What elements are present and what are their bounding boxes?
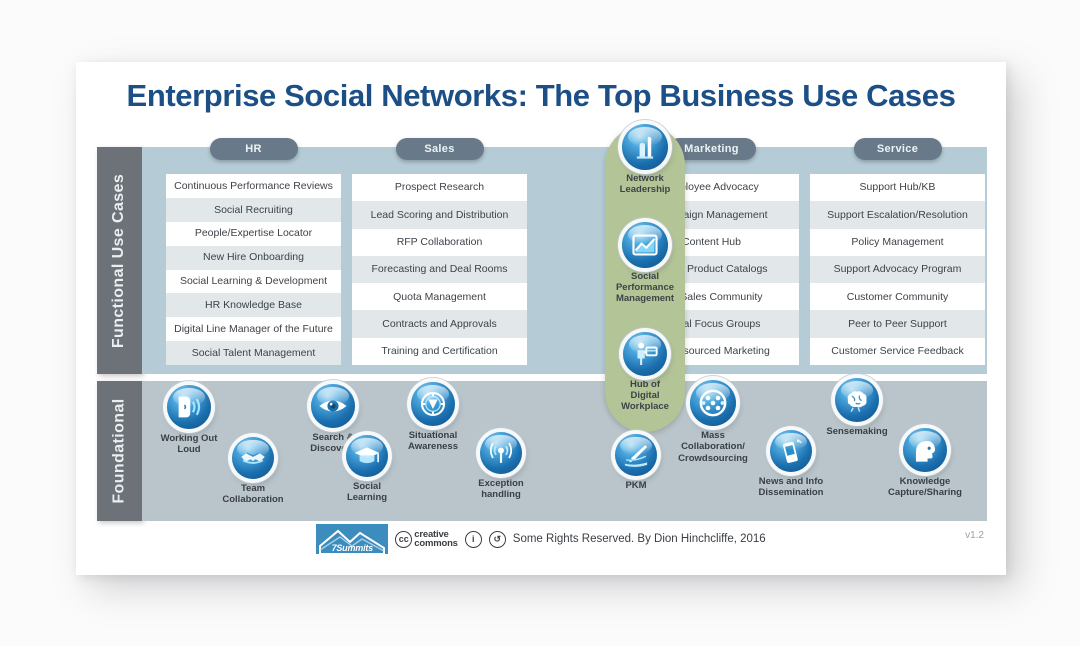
foundational-item-label: SocialLearning (312, 481, 422, 504)
creative-commons-wordmark: cc creative commons (395, 530, 457, 549)
column-header-sales[interactable]: Sales (396, 138, 484, 160)
foundational-item-mobile-phone[interactable]: News and InfoDissemination (736, 430, 846, 499)
cc-sharealike-badge-icon: ↺ (489, 531, 506, 548)
center-item-orb (605, 332, 685, 376)
foundational-item-signal-tower[interactable]: Exceptionhandling (446, 432, 556, 501)
section-label-functional-text: Functional Use Cases (111, 173, 129, 347)
network-leadership-icon (622, 124, 668, 170)
use-case-cell[interactable]: Social Learning & Development (166, 270, 341, 294)
handshake-icon (232, 437, 274, 479)
cc-icon: cc (395, 531, 412, 548)
eye-icon (311, 384, 355, 428)
cc-line-2: commons (414, 539, 457, 549)
column-header-service[interactable]: Service (854, 138, 942, 160)
cc-attribution-badge-icon: i (465, 531, 482, 548)
use-case-cell[interactable]: HR Knowledge Base (166, 293, 341, 317)
foundational-item-label: TeamCollaboration (198, 483, 308, 506)
signal-tower-icon (480, 432, 522, 474)
sevensummits-logo-text: 7Summits (332, 543, 373, 554)
column-header-label: HR (245, 143, 262, 155)
use-case-column-hr: Continuous Performance ReviewsSocial Rec… (166, 174, 341, 365)
use-case-cell[interactable]: Policy Management (810, 229, 985, 256)
footer: 7Summits cc creative commons i ↺ Some Ri… (76, 524, 1006, 554)
use-case-cell[interactable]: Digital Line Manager of the Future (166, 317, 341, 341)
section-label-functional-use-cases: Functional Use Cases (97, 147, 142, 374)
rights-text: Some Rights Reserved. By Dion Hinchcliff… (513, 533, 766, 545)
use-case-cell[interactable]: Support Advocacy Program (810, 256, 985, 283)
use-case-cell[interactable]: RFP Collaboration (352, 229, 527, 256)
center-item-label: NetworkLeadership (605, 173, 685, 195)
center-item-label: SocialPerformanceManagement (605, 271, 685, 305)
compass-icon (411, 382, 455, 426)
version-label: v1.2 (965, 530, 984, 541)
foundational-item-label: KnowledgeCapture/Sharing (870, 476, 980, 499)
use-case-cell[interactable]: Social Talent Management (166, 341, 341, 365)
foundational-item-label: PKM (581, 480, 691, 491)
column-header-hr[interactable]: HR (210, 138, 298, 160)
use-case-cell[interactable]: Contracts and Approvals (352, 310, 527, 337)
column-header-label: Marketing (684, 143, 739, 155)
use-case-cell[interactable]: Prospect Research (352, 174, 527, 201)
use-case-cell[interactable]: Lead Scoring and Distribution (352, 201, 527, 228)
use-case-cell[interactable]: People/Expertise Locator (166, 222, 341, 246)
foundational-item-label: News and InfoDissemination (736, 476, 846, 499)
brain-icon (835, 378, 879, 422)
infographic-card: Enterprise Social Networks: The Top Busi… (76, 62, 1006, 575)
digital-workplace-icon (623, 332, 667, 376)
use-case-cell[interactable]: Quota Management (352, 283, 527, 310)
use-case-cell[interactable]: Social Recruiting (166, 198, 341, 222)
foundational-item-label: Exceptionhandling (446, 478, 556, 501)
use-case-cell[interactable]: Peer to Peer Support (810, 310, 985, 337)
center-item-orb (605, 124, 685, 170)
use-case-cell[interactable]: Customer Community (810, 283, 985, 310)
pen-icon (615, 434, 657, 476)
use-case-cell[interactable]: Training and Certification (352, 338, 527, 365)
column-header-label: Service (877, 143, 918, 155)
speaking-head-icon (167, 385, 211, 429)
use-case-cell[interactable]: Support Hub/KB (810, 174, 985, 201)
use-case-cell[interactable]: Forecasting and Deal Rooms (352, 256, 527, 283)
head-profile-icon (903, 428, 947, 472)
use-case-cell[interactable]: New Hire Onboarding (166, 246, 341, 270)
center-item-social-performance[interactable]: SocialPerformanceManagement (605, 222, 685, 305)
use-case-cell[interactable]: Support Escalation/Resolution (810, 201, 985, 228)
foundational-item-head-profile[interactable]: KnowledgeCapture/Sharing (870, 428, 980, 499)
use-case-cell[interactable]: Customer Service Feedback (810, 338, 985, 365)
center-item-network-leadership[interactable]: NetworkLeadership (605, 124, 685, 195)
column-header-label: Sales (424, 143, 454, 155)
use-case-cell[interactable]: Continuous Performance Reviews (166, 174, 341, 198)
use-case-column-sales: Prospect ResearchLead Scoring and Distri… (352, 174, 527, 365)
section-label-foundational-text: Foundational (111, 398, 129, 503)
people-grid-icon (690, 380, 736, 426)
social-performance-icon (622, 222, 668, 268)
sevensummits-logo: 7Summits (316, 524, 388, 554)
use-case-column-service: Support Hub/KBSupport Escalation/Resolut… (810, 174, 985, 365)
center-item-orb (605, 222, 685, 268)
page-background: Enterprise Social Networks: The Top Busi… (0, 0, 1080, 646)
page-title: Enterprise Social Networks: The Top Busi… (76, 78, 1006, 114)
